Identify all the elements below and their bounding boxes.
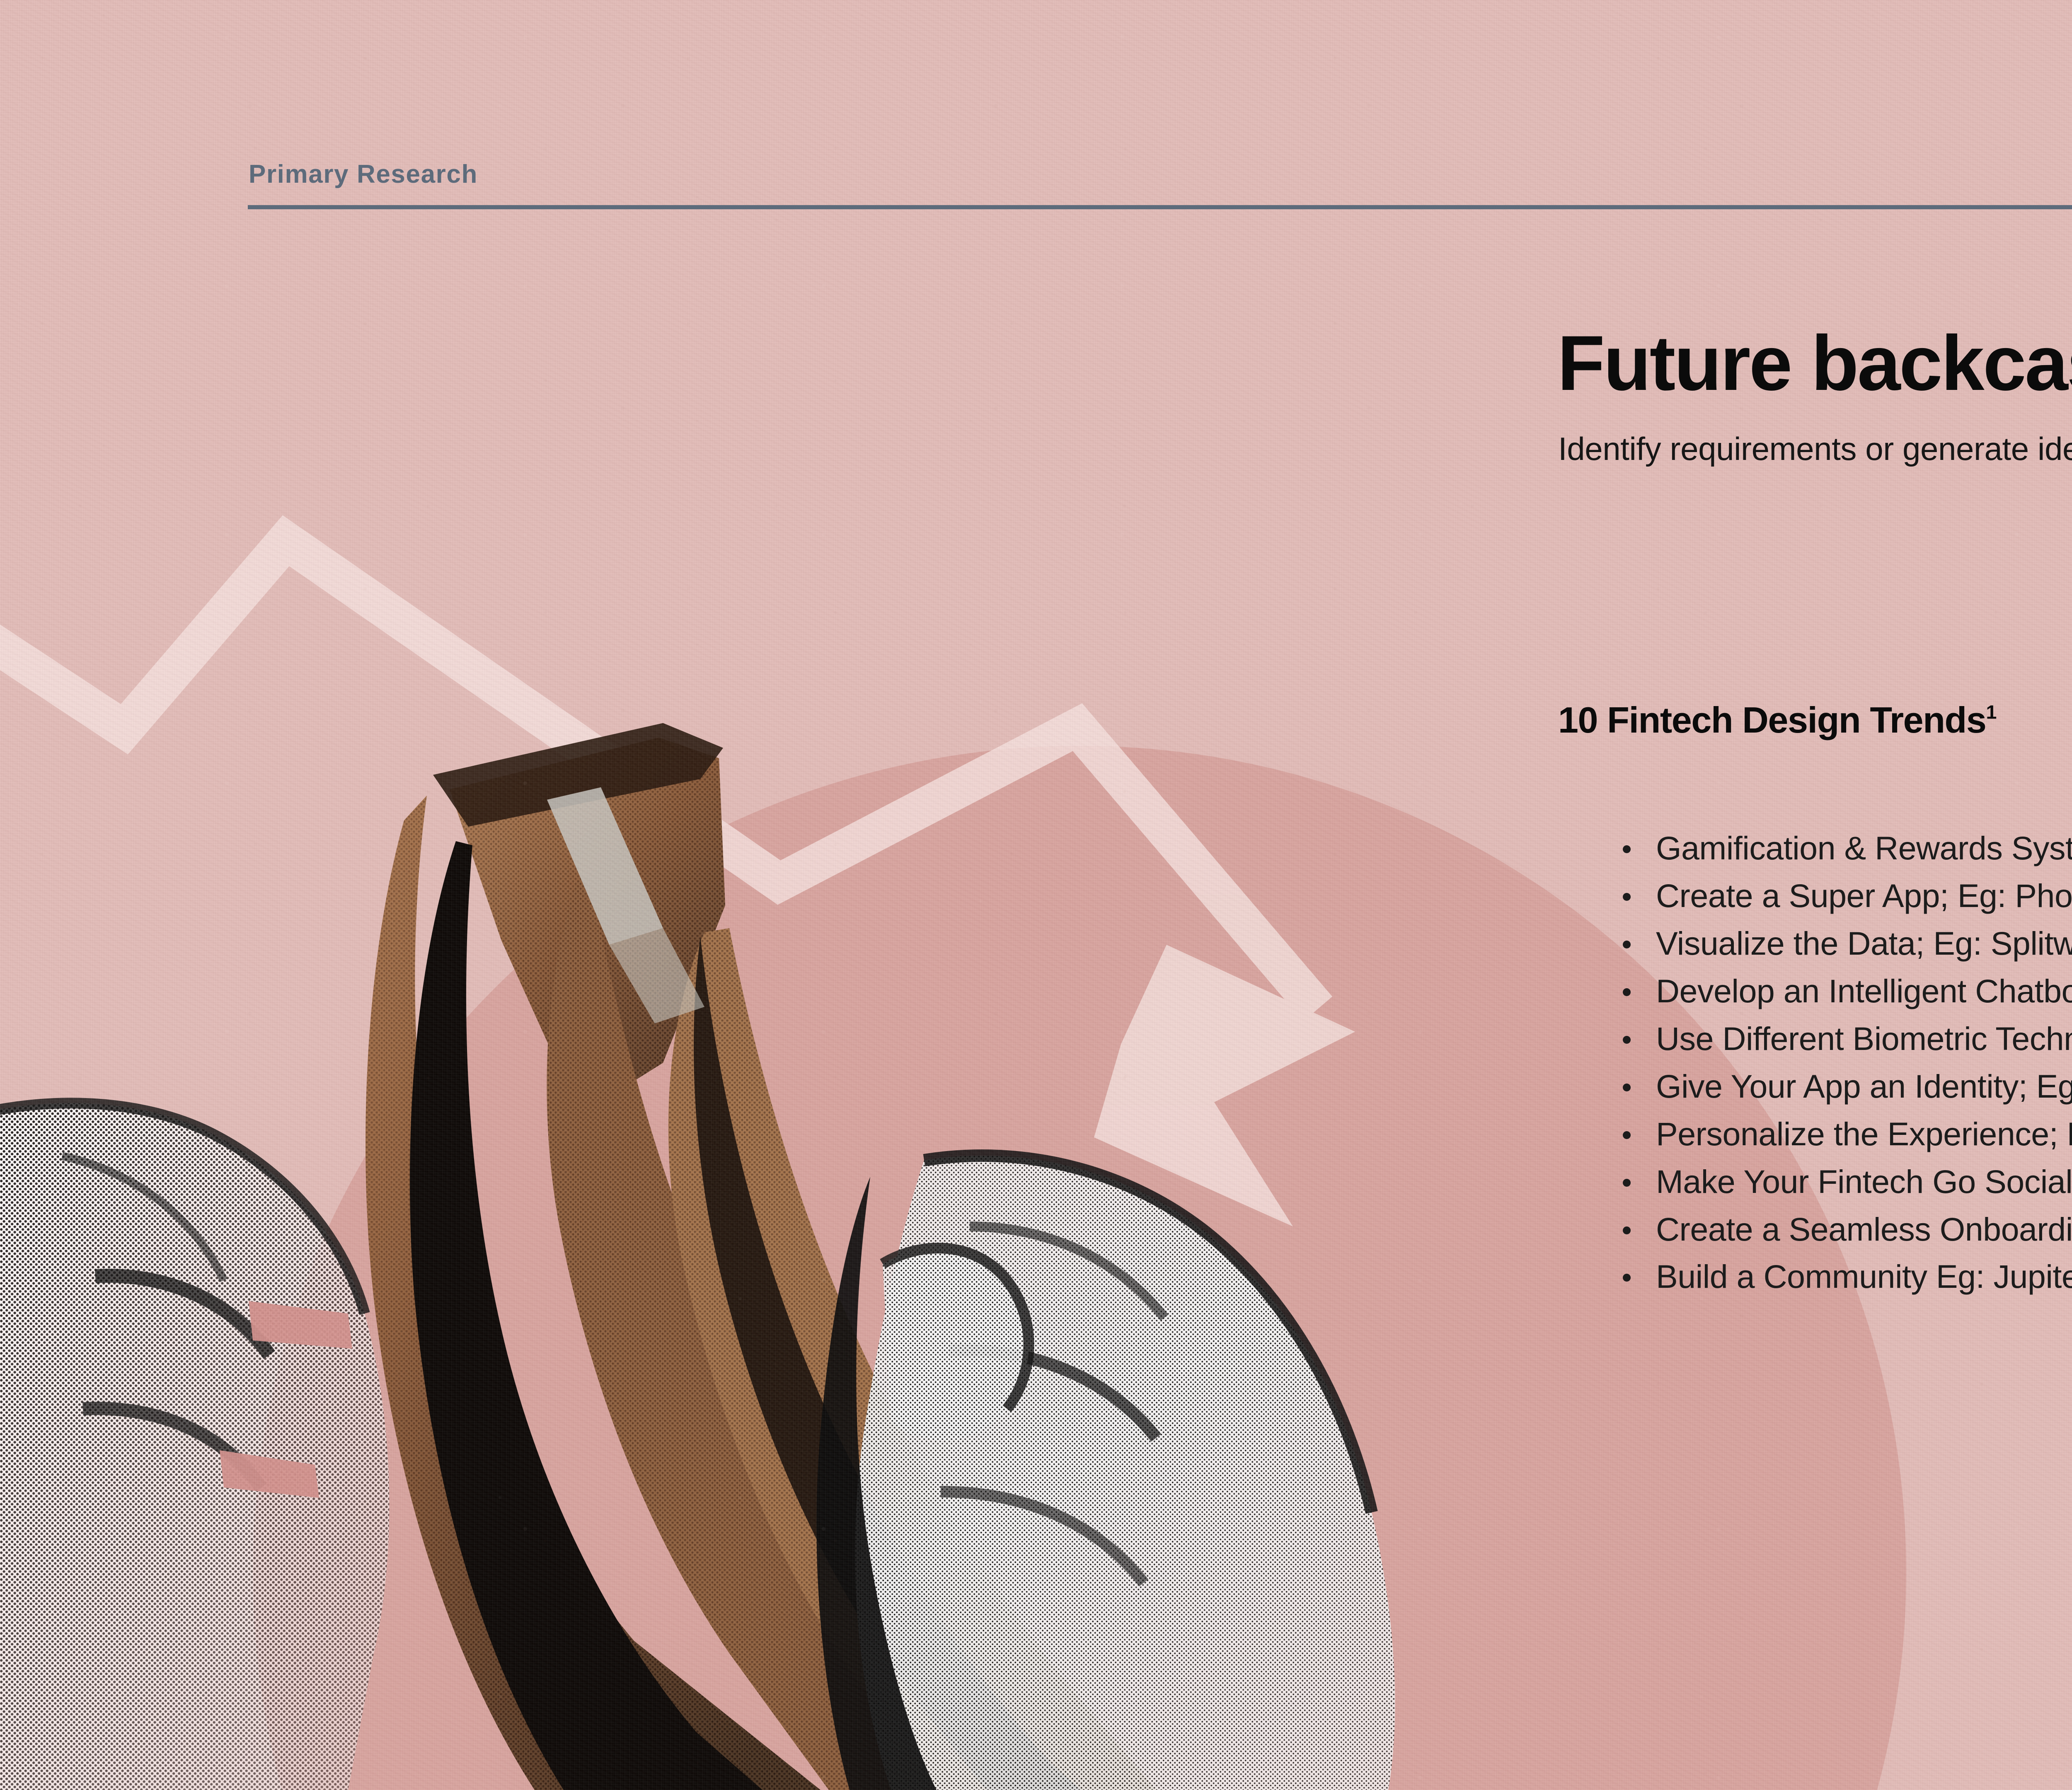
section-heading-text: 10 Fintech Design Trends bbox=[1558, 699, 1986, 740]
page-subtitle: Identify requirements or generate ideas … bbox=[1558, 429, 2072, 468]
footnote-marker: 1 bbox=[1986, 701, 1997, 723]
list-item: Gamification & Rewards System; Eg: Gpay … bbox=[1611, 825, 2072, 872]
left-hand-halftone bbox=[0, 1103, 389, 1790]
list-item: Give Your App an Identity; Eg: Fi.money bbox=[1611, 1063, 2072, 1110]
eyebrow-divider bbox=[248, 205, 2072, 209]
list-item: Personalize the Experience; Eg: Groww bbox=[1611, 1110, 2072, 1158]
list-item: Build a Community Eg: Jupiter bbox=[1611, 1253, 2072, 1301]
list-item: Develop an Intelligent Chatbot; Eg: PayU bbox=[1611, 968, 2072, 1015]
slide-canvas: Primary Research Future backcasting Iden… bbox=[0, 0, 2072, 1790]
list-item: Create a Super App; Eg: PhonePe bbox=[1611, 872, 2072, 920]
list-item: Make Your Fintech Go Social; Eg: Godutch bbox=[1611, 1158, 2072, 1206]
right-hand-halftone bbox=[816, 1156, 1395, 1790]
page-title: Future backcasting bbox=[1557, 324, 2072, 402]
section-heading: 10 Fintech Design Trends1 bbox=[1558, 702, 1997, 738]
fintech-trends-list: Gamification & Rewards System; Eg: Gpay … bbox=[1611, 825, 2072, 1301]
list-item: Create a Seamless Onboarding; Eg: PayPal bbox=[1611, 1206, 2072, 1253]
eyebrow-section: Primary Research bbox=[248, 162, 2072, 209]
list-item: Use Different Biometric Technologies; Eg… bbox=[1611, 1015, 2072, 1063]
list-item: Visualize the Data; Eg: Splitwise bbox=[1611, 920, 2072, 968]
eyebrow-label: Primary Research bbox=[249, 162, 2072, 187]
